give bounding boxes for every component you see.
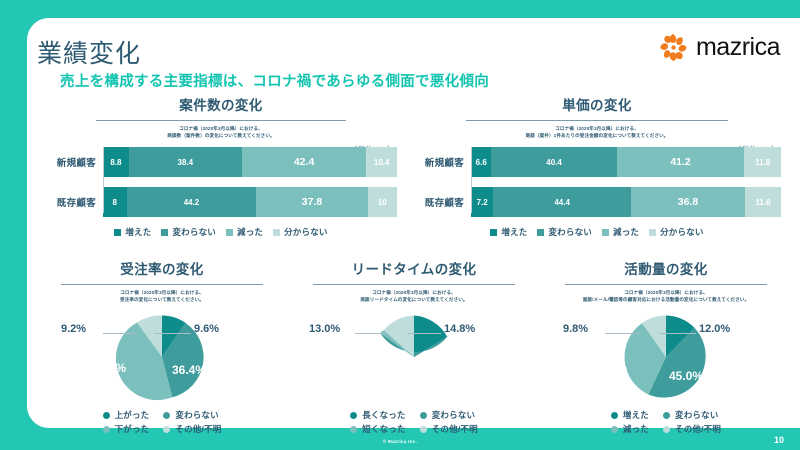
legend-dot-icon	[103, 426, 110, 433]
legend-item: 減った	[611, 423, 649, 435]
legend-item: 変わらない	[663, 409, 721, 421]
legend-label: 変わらない	[548, 226, 592, 238]
bar-segment: 42.4	[242, 147, 367, 177]
bar-segment: 36.8	[631, 187, 745, 217]
bar-segment: 38.4	[129, 147, 242, 177]
pie-leader-line	[659, 333, 696, 334]
chart-title: 単価の変化	[413, 94, 781, 114]
legend-item: 変わらない	[537, 226, 592, 238]
pie-label-outer: 9.8%	[563, 323, 588, 335]
table-row: 新規顧客 8.8 38.4 42.4 10.4	[45, 147, 397, 177]
chart-legend: 長くなった 変わらない 短くなった その他/不明	[289, 409, 539, 435]
logo-wordmark: mazrica	[696, 33, 780, 62]
legend-item: 下がった	[103, 423, 150, 435]
legend-item: 増えた	[611, 409, 649, 421]
pie-leader-line	[355, 333, 388, 334]
legend-label: 短くなった	[362, 423, 406, 435]
legend-swatch-icon	[537, 229, 544, 236]
bar-segment: 8	[103, 187, 127, 217]
pie-label-inner: 50.4%	[419, 373, 453, 387]
legend-swatch-icon	[226, 229, 233, 236]
pie-leader-line	[605, 333, 641, 334]
table-row: 既存顧客 7.2 44.4 36.8 11.6	[413, 187, 781, 217]
bar-rows: 新規顧客 8.8 38.4 42.4 10.4 既存顧客 8 44.2 37.8…	[45, 147, 397, 217]
page-subtitle: 売上を構成する主要指標は、コロナ禍であらゆる側面で悪化傾向	[60, 70, 489, 91]
bar-segment: 11.8	[744, 147, 781, 177]
legend-label: 減った	[237, 226, 263, 238]
bar-category-label: 既存顧客	[45, 195, 103, 209]
legend-label: 減った	[623, 423, 649, 435]
legend-label: 分からない	[284, 226, 328, 238]
legend-dot-icon	[611, 426, 618, 433]
pie-wrap: 9.6% 9.2% 36.4% 44.8%	[37, 311, 287, 403]
chart-win-rate: 受注率の変化 コロナ禍（2020年3月以降）における、 受注率の変化について教え…	[37, 258, 287, 435]
bar-track: 8.8 38.4 42.4 10.4	[103, 147, 397, 177]
chart-title: リードタイムの変化	[289, 258, 539, 278]
chart-title: 案件数の変化	[45, 94, 397, 114]
legend-label: 変わらない	[675, 409, 719, 421]
bar-track: 7.2 44.4 36.8 11.6	[471, 187, 781, 217]
pie-label-inner: 45.0%	[669, 369, 703, 383]
table-row: 既存顧客 8 44.2 37.8 10	[45, 187, 397, 217]
legend-item: その他/不明	[163, 423, 221, 435]
brand-logo: mazrica	[658, 32, 780, 63]
chart-note: コロナ禍（2020年3月以降）における、 面談/メール/電話等の顧客対応における…	[541, 289, 791, 303]
legend-label: 減った	[613, 226, 639, 238]
bar-segment: 40.4	[491, 147, 616, 177]
slide: 業績変化 売上を構成する主要指標は、コロナ禍であらゆる側面で悪化傾向	[0, 0, 800, 450]
legend-item: 分からない	[649, 226, 704, 238]
chart-case-count: 案件数の変化 コロナ禍（2020年3月以降）における、 商談数（案件数）の変化に…	[45, 94, 397, 238]
pie-label-inner: 33.2%	[593, 361, 627, 375]
legend-label: 増えた	[623, 409, 649, 421]
chart-note: コロナ禍（2020年3月以降）における、 受注率の変化について教えてください。	[37, 289, 287, 303]
bar-track: 8 44.2 37.8 10	[103, 187, 397, 217]
pie-label-inner: 21.8%	[344, 355, 378, 369]
legend-item: 変わらない	[161, 226, 216, 238]
bar-rows: 新規顧客 6.6 40.4 41.2 11.8 既存顧客 7.2 44.4 36…	[413, 147, 781, 217]
footer-copyright: © Mazrica Inc.	[0, 439, 800, 444]
legend-item: その他/不明	[663, 423, 721, 435]
title-rule	[313, 284, 515, 285]
bar-segment: 7.2	[471, 187, 493, 217]
bar-track: 6.6 40.4 41.2 11.8	[471, 147, 781, 177]
legend-dot-icon	[163, 412, 170, 419]
legend-label: 増えた	[125, 226, 151, 238]
legend-swatch-icon	[602, 229, 609, 236]
legend-dot-icon	[350, 426, 357, 433]
pie-label-outer: 14.8%	[444, 323, 475, 335]
bar-segment: 8.8	[103, 147, 129, 177]
legend-dot-icon	[420, 412, 427, 419]
bar-category-label: 新規顧客	[45, 155, 103, 169]
legend-item: 長くなった	[350, 409, 406, 421]
axis-line	[471, 147, 472, 213]
pie-label-outer: 9.2%	[61, 323, 86, 335]
legend-item: 減った	[226, 226, 263, 238]
chart-activity-volume: 活動量の変化 コロナ禍（2020年3月以降）における、 面談/メール/電話等の顧…	[541, 258, 791, 435]
legend-label: 下がった	[115, 423, 150, 435]
legend-item: 増えた	[114, 226, 151, 238]
legend-label: その他/不明	[675, 423, 721, 435]
pie-wrap: 12.0% 9.8% 45.0% 33.2%	[541, 311, 791, 403]
legend-item: 短くなった	[350, 423, 406, 435]
bar-segment: 44.4	[493, 187, 631, 217]
legend-item: その他/不明	[420, 423, 478, 435]
pie-label-outer: 13.0%	[309, 323, 340, 335]
legend-item: 変わらない	[163, 409, 221, 421]
legend-dot-icon	[611, 412, 618, 419]
legend-label: 増えた	[501, 226, 527, 238]
chart-note: コロナ禍（2020年3月以降）における、 商談（案件）1件あたりの受注金額の変化…	[413, 125, 781, 139]
page-number: 10	[774, 435, 784, 445]
legend-label: 変わらない	[175, 409, 219, 421]
pie-label-inner: 36.4%	[172, 363, 206, 377]
legend-swatch-icon	[649, 229, 656, 236]
chart-note: コロナ禍（2020年3月以降）における、 商談数（案件数）の変化について教えてく…	[45, 125, 397, 139]
chart-legend: 増えた 変わらない 減った 分からない	[413, 226, 781, 238]
axis-line	[103, 147, 104, 213]
legend-item: 分からない	[273, 226, 328, 238]
pie-label-outer: 9.6%	[194, 323, 219, 335]
legend-dot-icon	[420, 426, 427, 433]
chart-legend: 増えた 変わらない 減った その他/不明	[541, 409, 791, 435]
legend-label: その他/不明	[432, 423, 478, 435]
bar-segment: 37.8	[256, 187, 367, 217]
pie-label-outer: 12.0%	[699, 323, 730, 335]
title-rule	[565, 284, 767, 285]
title-rule	[61, 284, 263, 285]
chart-title: 受注率の変化	[37, 258, 287, 278]
bar-segment: 11.6	[745, 187, 781, 217]
bar-segment: 10	[368, 187, 397, 217]
pie-wrap: 14.8% 13.0% 50.4% 21.8%	[289, 311, 539, 403]
table-row: 新規顧客 6.6 40.4 41.2 11.8	[413, 147, 781, 177]
pie-label-inner: 44.8%	[92, 361, 126, 375]
legend-label: 変わらない	[172, 226, 216, 238]
legend-label: 分からない	[660, 226, 704, 238]
bar-category-label: 新規顧客	[413, 155, 471, 169]
chart-note: コロナ禍（2020年3月以降）における、 商談リードタイムの変化について教えてく…	[289, 289, 539, 303]
chart-legend: 上がった 変わらない 下がった その他/不明	[37, 409, 287, 435]
legend-label: 長くなった	[362, 409, 406, 421]
legend-label: 変わらない	[432, 409, 476, 421]
legend-swatch-icon	[161, 229, 168, 236]
legend-item: 上がった	[103, 409, 150, 421]
mazrica-swirl-icon	[658, 32, 689, 63]
page-title: 業績変化	[37, 34, 141, 70]
chart-legend: 増えた 変わらない 減った 分からない	[45, 226, 397, 238]
title-rule	[466, 120, 728, 121]
bar-segment: 10.4	[366, 147, 397, 177]
bar-segment: 6.6	[471, 147, 491, 177]
slide-card: 業績変化 売上を構成する主要指標は、コロナ禍であらゆる側面で悪化傾向	[27, 18, 800, 428]
pie-leader-line	[154, 333, 191, 334]
bar-segment: 41.2	[617, 147, 745, 177]
legend-item: 減った	[602, 226, 639, 238]
legend-dot-icon	[663, 412, 670, 419]
legend-swatch-icon	[490, 229, 497, 236]
legend-label: 上がった	[115, 409, 150, 421]
chart-unit-price: 単価の変化 コロナ禍（2020年3月以降）における、 商談（案件）1件あたりの受…	[413, 94, 781, 238]
pie-leader-line	[103, 333, 136, 334]
legend-dot-icon	[163, 426, 170, 433]
legend-dot-icon	[103, 412, 110, 419]
bar-category-label: 既存顧客	[413, 195, 471, 209]
bar-segment: 44.2	[127, 187, 257, 217]
chart-lead-time: リードタイムの変化 コロナ禍（2020年3月以降）における、 商談リードタイムの…	[289, 258, 539, 435]
legend-item: 増えた	[490, 226, 527, 238]
pie-slice	[414, 316, 447, 357]
legend-label: その他/不明	[175, 423, 221, 435]
legend-dot-icon	[663, 426, 670, 433]
title-rule	[96, 120, 346, 121]
chart-title: 活動量の変化	[541, 258, 791, 278]
pie-leader-line	[407, 333, 441, 334]
legend-swatch-icon	[114, 229, 121, 236]
legend-dot-icon	[350, 412, 357, 419]
legend-item: 変わらない	[420, 409, 478, 421]
legend-swatch-icon	[273, 229, 280, 236]
